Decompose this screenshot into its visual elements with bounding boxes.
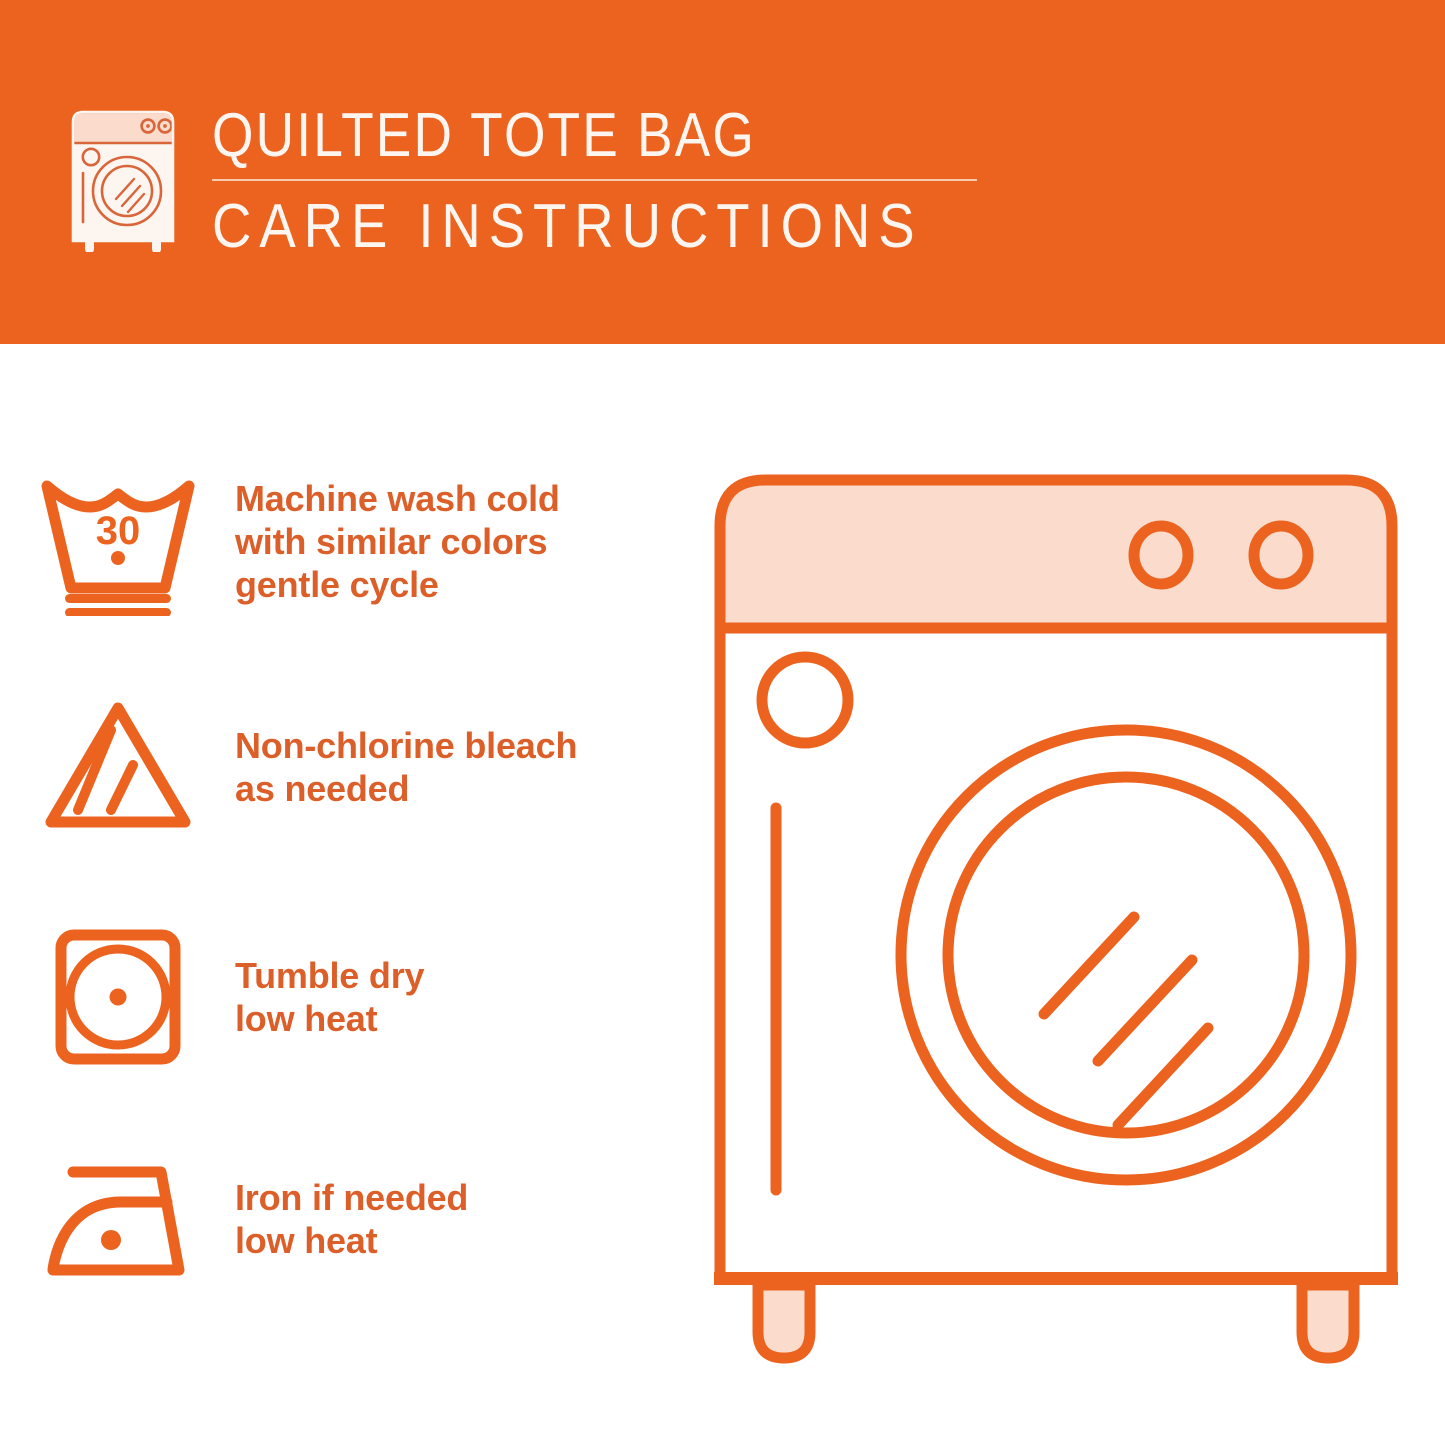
- machine-wash-30-gentle-icon: 30: [0, 446, 235, 636]
- foot-left: [758, 1285, 810, 1358]
- foot-right: [1302, 1285, 1354, 1358]
- care-row-bleach: Non-chlorine bleach as needed: [0, 662, 700, 872]
- page-subtitle: CARE INSTRUCTIONS: [212, 194, 898, 260]
- header-text-block: QUILTED TOTE BAG CARE INSTRUCTIONS: [212, 103, 992, 260]
- care-instructions-list: 30 Machine wash cold with similar colors…: [0, 344, 700, 1445]
- washing-machine-icon: [64, 104, 182, 252]
- non-chlorine-bleach-triangle-icon: [0, 672, 235, 862]
- care-row-machine-wash: 30 Machine wash cold with similar colors…: [0, 436, 700, 646]
- wash-temperature-value: 30: [95, 509, 140, 553]
- title-divider: [212, 179, 977, 181]
- care-row-tumble-dry: Tumble dry low heat: [0, 892, 700, 1102]
- body-frame: [720, 628, 1392, 1278]
- bottom-rail: [714, 1272, 1398, 1285]
- front-load-washing-machine-illustration: [706, 460, 1406, 1380]
- care-label-tumble-dry: Tumble dry low heat: [235, 954, 424, 1040]
- detergent-indicator-circle: [762, 657, 848, 743]
- iron-low-heat-icon: [0, 1124, 235, 1314]
- drum-streak-lines: [1044, 917, 1208, 1125]
- tumble-dry-low-heat-icon: [0, 902, 235, 1092]
- care-label-bleach: Non-chlorine bleach as needed: [235, 724, 577, 810]
- care-label-machine-wash: Machine wash cold with similar colors ge…: [235, 477, 560, 606]
- care-row-iron: Iron if needed low heat: [0, 1114, 700, 1324]
- control-panel: [720, 480, 1392, 628]
- drum-inner-ring: [948, 777, 1304, 1133]
- care-label-iron: Iron if needed low heat: [235, 1176, 468, 1262]
- header-band: QUILTED TOTE BAG CARE INSTRUCTIONS: [0, 0, 1445, 344]
- page-title: QUILTED TOTE BAG: [212, 103, 883, 169]
